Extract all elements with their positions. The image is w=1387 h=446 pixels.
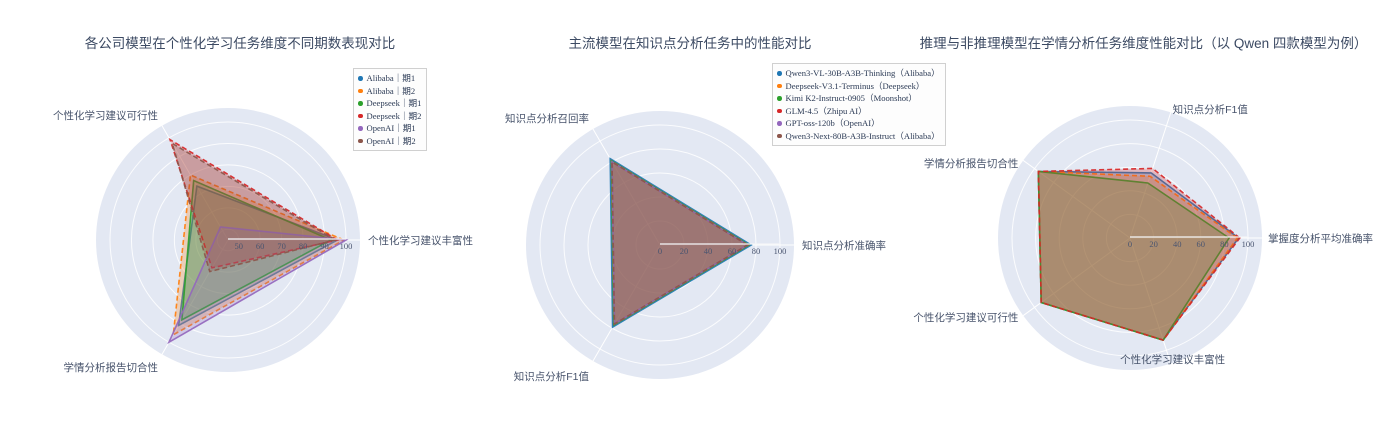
radial-tick-label: 100 [774, 246, 787, 256]
legend-marker-icon [777, 96, 782, 101]
radial-tick-label: 0 [1128, 239, 1132, 249]
axis-category-label: 学情分析报告切合性 [924, 157, 1019, 170]
legend-label: Deepseek｜期2 [367, 110, 422, 123]
axis-category-label: 个性化学习建议可行性 [913, 311, 1018, 324]
radial-tick-label: 100 [1242, 239, 1255, 249]
radar-svg-1: 5060708090100个性化学习建议丰富性个性化学习建议可行性学情分析报告切… [0, 0, 480, 446]
legend-label: OpenAI｜期1 [367, 122, 416, 135]
legend-marker-icon [358, 101, 363, 106]
radial-tick-label: 50 [234, 241, 243, 251]
legend-item[interactable]: Deepseek｜期2 [358, 110, 421, 123]
legend-label: Alibaba｜期2 [367, 85, 416, 98]
radial-tick-label: 60 [728, 246, 737, 256]
radial-tick-label: 0 [658, 246, 662, 256]
radial-tick-label: 90 [320, 241, 329, 251]
legend-label: GLM-4.5（Zhipu AI） [786, 105, 867, 118]
radial-tick-label: 40 [1173, 239, 1182, 249]
legend-label: OpenAI｜期2 [367, 135, 416, 148]
legend-marker-icon [777, 109, 782, 114]
radial-tick-label: 80 [299, 241, 308, 251]
legend-marker-icon [358, 126, 363, 131]
legend-item[interactable]: Alibaba｜期1 [358, 72, 421, 85]
legend-marker-icon [777, 84, 782, 89]
radial-tick-label: 60 [1197, 239, 1206, 249]
legend-marker-icon [358, 114, 363, 119]
axis-category-label: 学情分析报告切合性 [64, 361, 159, 374]
radial-tick-label: 80 [1220, 239, 1229, 249]
radial-tick-label: 60 [256, 241, 265, 251]
axis-category-label: 个性化学习建议丰富性 [1120, 353, 1225, 366]
radial-tick-label: 80 [752, 246, 761, 256]
legend-item[interactable]: OpenAI｜期1 [358, 122, 421, 135]
legend-label: Kimi K2-Instruct-0905（Moonshot） [786, 92, 918, 105]
axis-category-label: 知识点分析召回率 [505, 112, 589, 125]
axis-category-label: 知识点分析准确率 [802, 239, 886, 252]
radar-chart-panel-3: 推理与非推理模型在学情分析任务维度性能对比（以 Qwen 四款模型为例） 020… [900, 0, 1387, 446]
legend-marker-icon [777, 71, 782, 76]
axis-category-label: 知识点分析F1值 [1173, 103, 1249, 116]
axis-category-label: 知识点分析F1值 [514, 370, 590, 383]
axis-category-label: 掌握度分析平均准确率 [1268, 232, 1373, 245]
radar-chart-panel-1: 各公司模型在个性化学习任务维度不同期数表现对比 5060708090100个性化… [0, 0, 480, 446]
radial-tick-label: 70 [277, 241, 286, 251]
radial-tick-label: 40 [704, 246, 713, 256]
legend-label: Alibaba｜期1 [367, 72, 416, 85]
radial-tick-label: 100 [340, 241, 353, 251]
radar-svg-3: 020406080100掌握度分析平均准确率知识点分析F1值学情分析报告切合性个… [900, 0, 1387, 446]
axis-category-label: 个性化学习建议丰富性 [368, 234, 473, 247]
legend-marker-icon [777, 134, 782, 139]
radial-tick-label: 20 [1149, 239, 1158, 249]
legend-marker-icon [358, 76, 363, 81]
legend-marker-icon [777, 121, 782, 126]
legend-item[interactable]: Alibaba｜期2 [358, 85, 421, 98]
legend-1: Alibaba｜期1Alibaba｜期2Deepseek｜期1Deepseek｜… [353, 68, 427, 151]
legend-item[interactable]: Deepseek｜期1 [358, 97, 421, 110]
legend-marker-icon [358, 89, 363, 94]
legend-item[interactable]: OpenAI｜期2 [358, 135, 421, 148]
axis-category-label: 个性化学习建议可行性 [53, 109, 158, 122]
legend-marker-icon [358, 139, 363, 144]
radial-tick-label: 20 [680, 246, 689, 256]
legend-label: Deepseek｜期1 [367, 97, 422, 110]
legend-label: GPT-oss-120b（OpenAI） [786, 117, 880, 130]
